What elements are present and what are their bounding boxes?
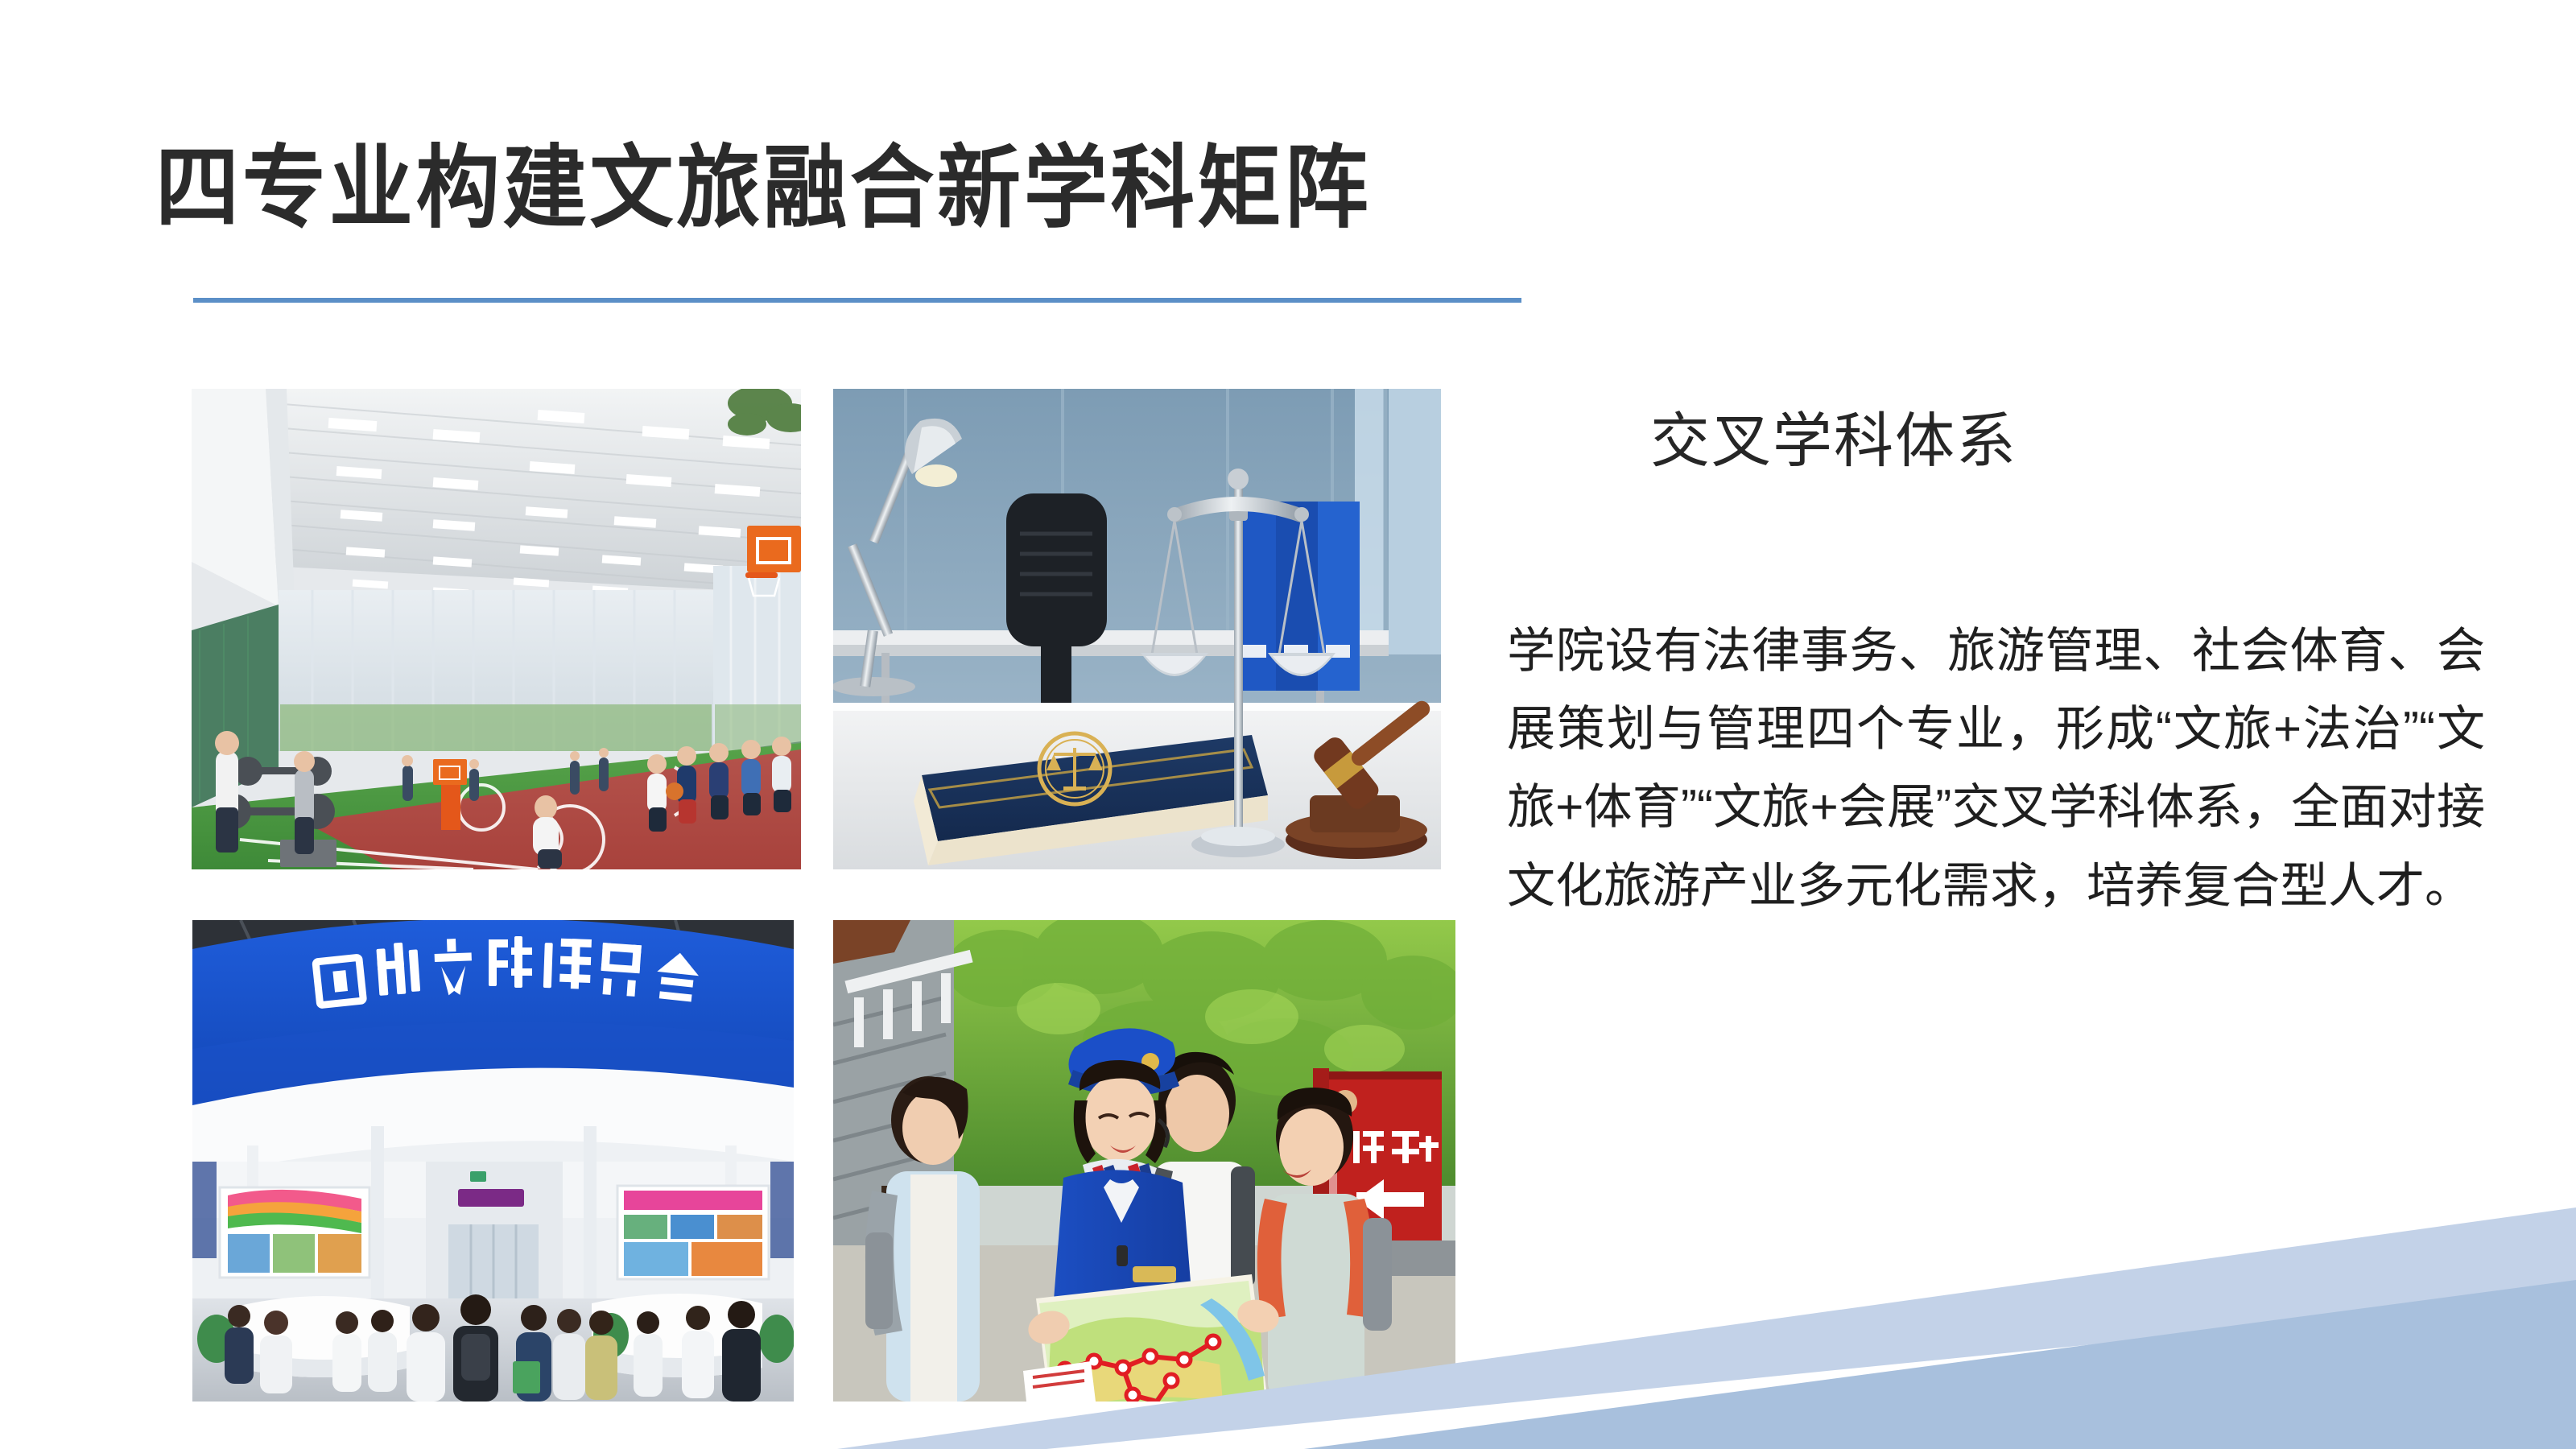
image-grid [192, 389, 1457, 1402]
image-tourism-expo [192, 920, 794, 1402]
sports-hall-illustration [192, 389, 801, 869]
side-body-paragraph: 学院设有法律事务、旅游管理、社会体育、会展策划与管理四个专业，形成“文旅+法治”… [1507, 612, 2485, 925]
slide-canvas: 四专业构建文旅融合新学科矩阵 [0, 0, 2576, 1449]
image-law-office [833, 389, 1441, 869]
image-sports-hall [192, 389, 801, 869]
tour-guide-illustration [833, 920, 1455, 1402]
side-heading: 交叉学科体系 [1650, 407, 2017, 475]
page-title: 四专业构建文旅融合新学科矩阵 [155, 143, 1371, 233]
title-underline-rule [193, 298, 1521, 303]
band-dark [1304, 1280, 2576, 1449]
law-office-illustration [833, 389, 1441, 869]
tourism-expo-illustration [192, 920, 794, 1402]
image-tour-guide [833, 920, 1455, 1402]
